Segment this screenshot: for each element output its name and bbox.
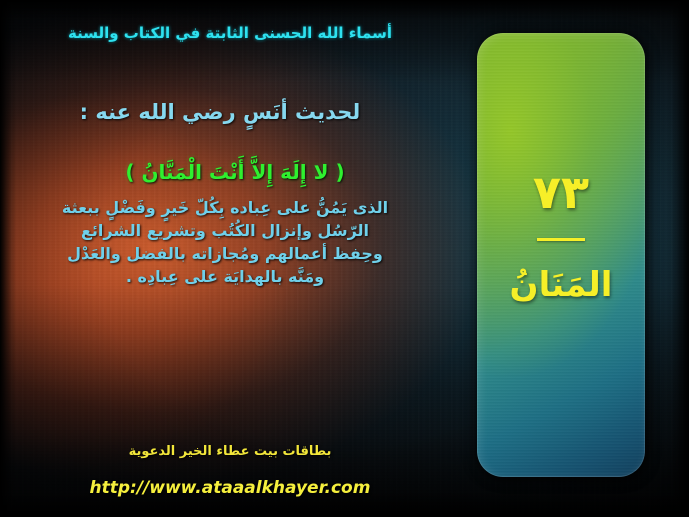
publisher-credit: بطاقات بيت عطاء الخير الدعوية bbox=[0, 444, 460, 459]
explanation-line: الذى يَمُنُّ على عِباده بِكُلّ خَيرٍ وفَ… bbox=[0, 196, 450, 219]
content-column: أسماء الله الحسنى الثابتة في الكتاب والس… bbox=[0, 0, 460, 517]
page-title: أسماء الله الحسنى الثابتة في الكتاب والس… bbox=[0, 24, 460, 42]
background-right-fade bbox=[671, 0, 689, 517]
dua-text: ( لا إِلَهَ إِلاَّ أَنْتَ الْمَنَّانُ ) bbox=[0, 160, 470, 184]
explanation-block: الذى يَمُنُّ على عِباده بِكُلّ خَيرٍ وفَ… bbox=[0, 196, 450, 288]
hadith-attribution: لحديث أنَسٍ رضي الله عنه : bbox=[0, 100, 440, 124]
islamic-name-card: ٧٣ المَنَانُ أسماء الله الحسنى الثابتة ف… bbox=[0, 0, 689, 517]
website-url[interactable]: http://www.ataaalkhayer.com bbox=[0, 478, 460, 498]
explanation-line: ومَنَّه بالهدايَة على عِبادِه . bbox=[0, 265, 450, 288]
name-number: ٧٣ bbox=[477, 165, 645, 219]
explanation-line: الرّسُل وإنزال الكُتُب وتشريع الشرائع bbox=[0, 219, 450, 242]
explanation-line: وحِفظ أعمالهم ومُجازاته بالفضل والعَدْل bbox=[0, 242, 450, 265]
panel-divider bbox=[537, 238, 585, 241]
panel-texture-overlay bbox=[477, 33, 645, 477]
divine-name: المَنَانُ bbox=[477, 265, 645, 305]
name-panel: ٧٣ المَنَانُ bbox=[477, 33, 645, 477]
